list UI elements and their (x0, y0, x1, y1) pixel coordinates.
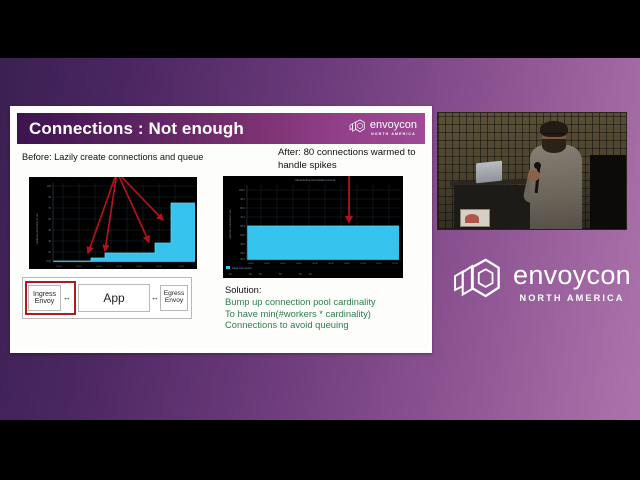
solution-line-1: Bump up connection pool cardinality (225, 296, 425, 308)
bidirectional-arrow-icon: ↔ (63, 294, 71, 302)
laptop (476, 161, 502, 184)
podium-sign (460, 209, 490, 227)
service-mesh-diagram: Ingress Envoy ↔ App ↔ Egress Envoy (22, 277, 192, 319)
speaker-video-panel (437, 112, 627, 230)
svg-text:50.0: 50.0 (240, 234, 245, 237)
svg-text:10:00: 10:00 (56, 266, 62, 268)
svg-text:0.00: 0.00 (46, 260, 51, 263)
svg-text:Upstream connections in use: Upstream connections in use (229, 208, 232, 238)
svg-text:40.0: 40.0 (240, 243, 245, 246)
brand-subtitle: NORTH AMERICA (513, 294, 631, 303)
slide-title: Connections : Not enough (29, 119, 244, 139)
svg-text:10:10: 10:10 (376, 263, 382, 265)
logo-wordmark: envoycon (370, 120, 417, 131)
envoycon-brand-logo: envoycon NORTH AMERICA (452, 257, 631, 308)
svg-text:Used conn count: Used conn count (232, 266, 252, 270)
diagram-egress-envoy: Egress Envoy (160, 285, 188, 311)
before-caption: Before: Lazily create connections and qu… (22, 152, 203, 162)
svg-text:60.0: 60.0 (240, 225, 245, 228)
svg-text:10:40: 10:40 (136, 266, 142, 268)
ingress-label-line2: Envoy (35, 298, 54, 305)
podium-sign-art (465, 214, 479, 223)
after-caption: After: 80 connections warmed to handle s… (278, 146, 423, 172)
svg-text:09:10: 09:10 (280, 263, 286, 265)
logo-subtitle: NORTH AMERICA (370, 133, 417, 137)
solution-heading: Solution: (225, 284, 425, 295)
svg-text:90.0: 90.0 (240, 198, 245, 201)
chart-before-connections: 100 90 70 60 40 30 20 0.00 Upstream conn… (29, 177, 197, 269)
envoy-hexagon-cube-icon (452, 257, 504, 308)
svg-text:100: 100 (47, 185, 52, 188)
svg-text:100.0: 100.0 (239, 189, 246, 192)
solution-block: Solution: Bump up connection pool cardin… (225, 284, 425, 331)
svg-text:10:00: 10:00 (360, 263, 366, 265)
svg-text:10:20: 10:20 (392, 263, 398, 265)
speaker-beard (542, 139, 566, 153)
svg-text:10:50: 10:50 (156, 266, 162, 268)
svg-text:20.0: 20.0 (240, 258, 245, 261)
chart-before-canvas: 100 90 70 60 40 30 20 0.00 Upstream conn… (29, 177, 197, 269)
svg-text:70.0: 70.0 (240, 216, 245, 219)
chart-after-canvas: Used Active Connection Count (223, 176, 403, 278)
speaker-glasses (543, 133, 565, 138)
letterbox-top (0, 0, 640, 58)
ingress-label-line1: Ingress (33, 291, 56, 298)
diagram-app: App (78, 284, 150, 312)
svg-text:Used Active Connection Count: Used Active Connection Count (295, 178, 336, 182)
slide-content: Connections : Not enough envoycon NORTH … (13, 109, 429, 350)
slide-envoycon-logo: envoycon NORTH AMERICA (349, 119, 417, 139)
svg-text:09:40: 09:40 (328, 263, 334, 265)
svg-text:10:30: 10:30 (116, 266, 122, 268)
egress-label-line2: Envoy (165, 298, 183, 305)
svg-text:11:00: 11:00 (178, 266, 184, 268)
svg-text:Upstream connections in use: Upstream connections in use (36, 213, 39, 244)
svg-text:09:20: 09:20 (296, 263, 302, 265)
slide-title-bar: Connections : Not enough envoycon NORTH … (17, 113, 425, 144)
svg-text:10:20: 10:20 (96, 266, 102, 268)
video-player-stage: Connections : Not enough envoycon NORTH … (0, 0, 640, 480)
svg-text:09:50: 09:50 (344, 263, 350, 265)
series-used-connections (247, 226, 399, 260)
solution-line-3: Connections to avoid queuing (225, 319, 425, 331)
svg-text:80.0: 80.0 (240, 207, 245, 210)
svg-text:09:30: 09:30 (312, 263, 318, 265)
microphone-head (534, 162, 541, 169)
diagram-ingress-envoy: Ingress Envoy (28, 285, 61, 311)
svg-text:30.0: 30.0 (240, 252, 245, 255)
envoy-hexagon-cube-icon (349, 119, 366, 139)
stage-dark-panel (590, 155, 626, 230)
svg-text:08:50: 08:50 (248, 263, 254, 265)
svg-text:09:00: 09:00 (264, 263, 270, 265)
solution-line-2: To have min(#workers * cardinality) (225, 308, 425, 320)
slide-panel: Connections : Not enough envoycon NORTH … (10, 106, 432, 353)
chart-after-connections: Used Active Connection Count (223, 176, 403, 278)
bidirectional-arrow-icon: ↔ (151, 294, 159, 302)
brand-wordmark: envoycon (513, 262, 631, 289)
letterbox-bottom (0, 420, 640, 480)
svg-text:10:10: 10:10 (76, 266, 82, 268)
speaker-hand (528, 170, 540, 181)
